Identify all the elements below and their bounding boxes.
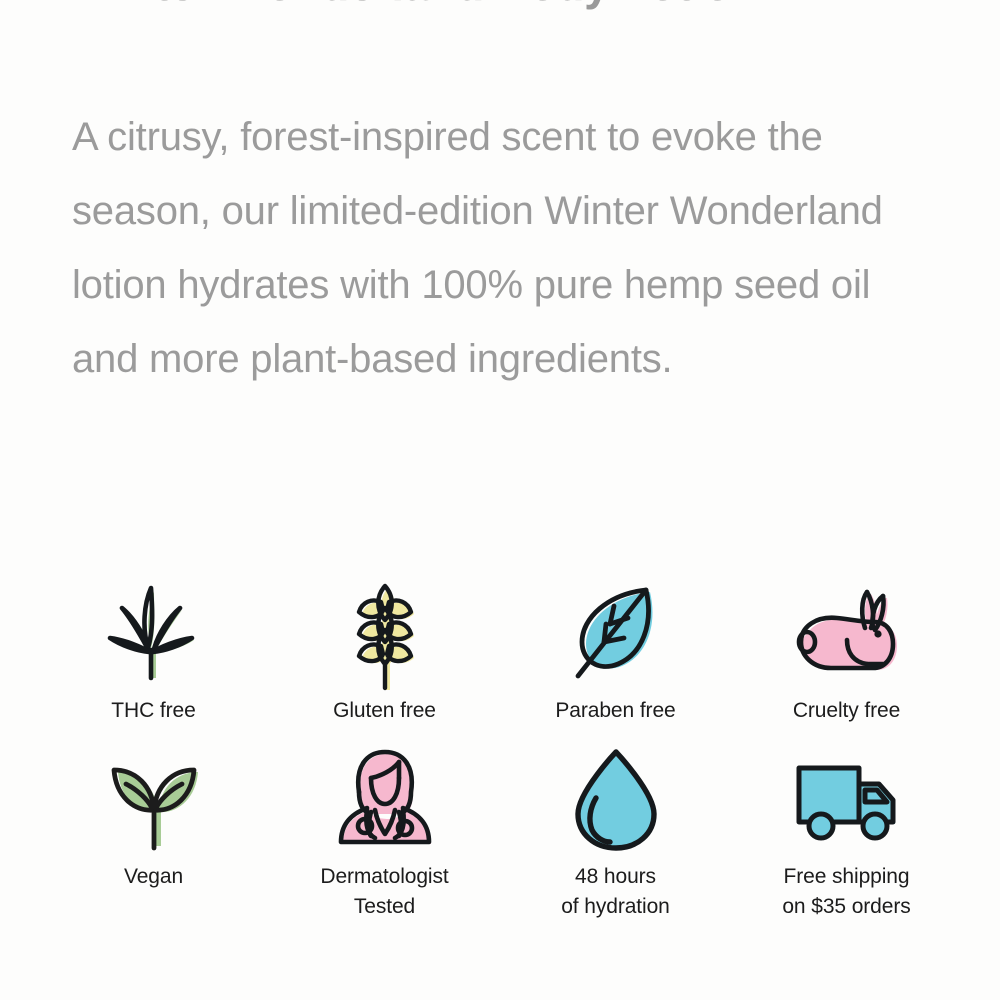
benefit-label: Vegan: [124, 862, 183, 892]
benefit-item-dermatologist-tested: Dermatologist Tested: [269, 744, 500, 922]
benefit-item-vegan: Vegan: [38, 744, 269, 922]
benefit-label: Paraben free: [555, 696, 675, 726]
benefit-label: Free shipping on $35 orders: [782, 862, 910, 922]
benefit-item-hydration: 48 hours of hydration: [500, 744, 731, 922]
rabbit-icon: [791, 578, 903, 690]
sprout-icon: [98, 744, 210, 856]
water-drop-icon: [560, 744, 672, 856]
product-description: A citrusy, forest-inspired scent to evok…: [72, 100, 942, 396]
benefit-label: Dermatologist Tested: [320, 862, 448, 922]
benefit-label: Gluten free: [333, 696, 436, 726]
benefit-label: 48 hours of hydration: [561, 862, 670, 922]
benefit-item-paraben-free: Paraben free: [500, 578, 731, 726]
benefit-label: Cruelty free: [793, 696, 900, 726]
page-heading-clipped: Winter Wonderland Body Lotion: [72, 0, 932, 14]
benefit-label: THC free: [111, 696, 195, 726]
delivery-truck-icon: [791, 744, 903, 856]
page-title: Winter Wonderland Body Lotion: [72, 0, 932, 14]
benefits-grid: THC free: [38, 578, 962, 922]
benefit-item-free-shipping: Free shipping on $35 orders: [731, 744, 962, 922]
dermatologist-icon: [329, 744, 441, 856]
hemp-leaf-icon: [98, 578, 210, 690]
benefit-item-gluten-free: Gluten free: [269, 578, 500, 726]
benefit-item-cruelty-free: Cruelty free: [731, 578, 962, 726]
wheat-stalk-icon: [329, 578, 441, 690]
benefit-item-thc-free: THC free: [38, 578, 269, 726]
leaf-icon: [560, 578, 672, 690]
